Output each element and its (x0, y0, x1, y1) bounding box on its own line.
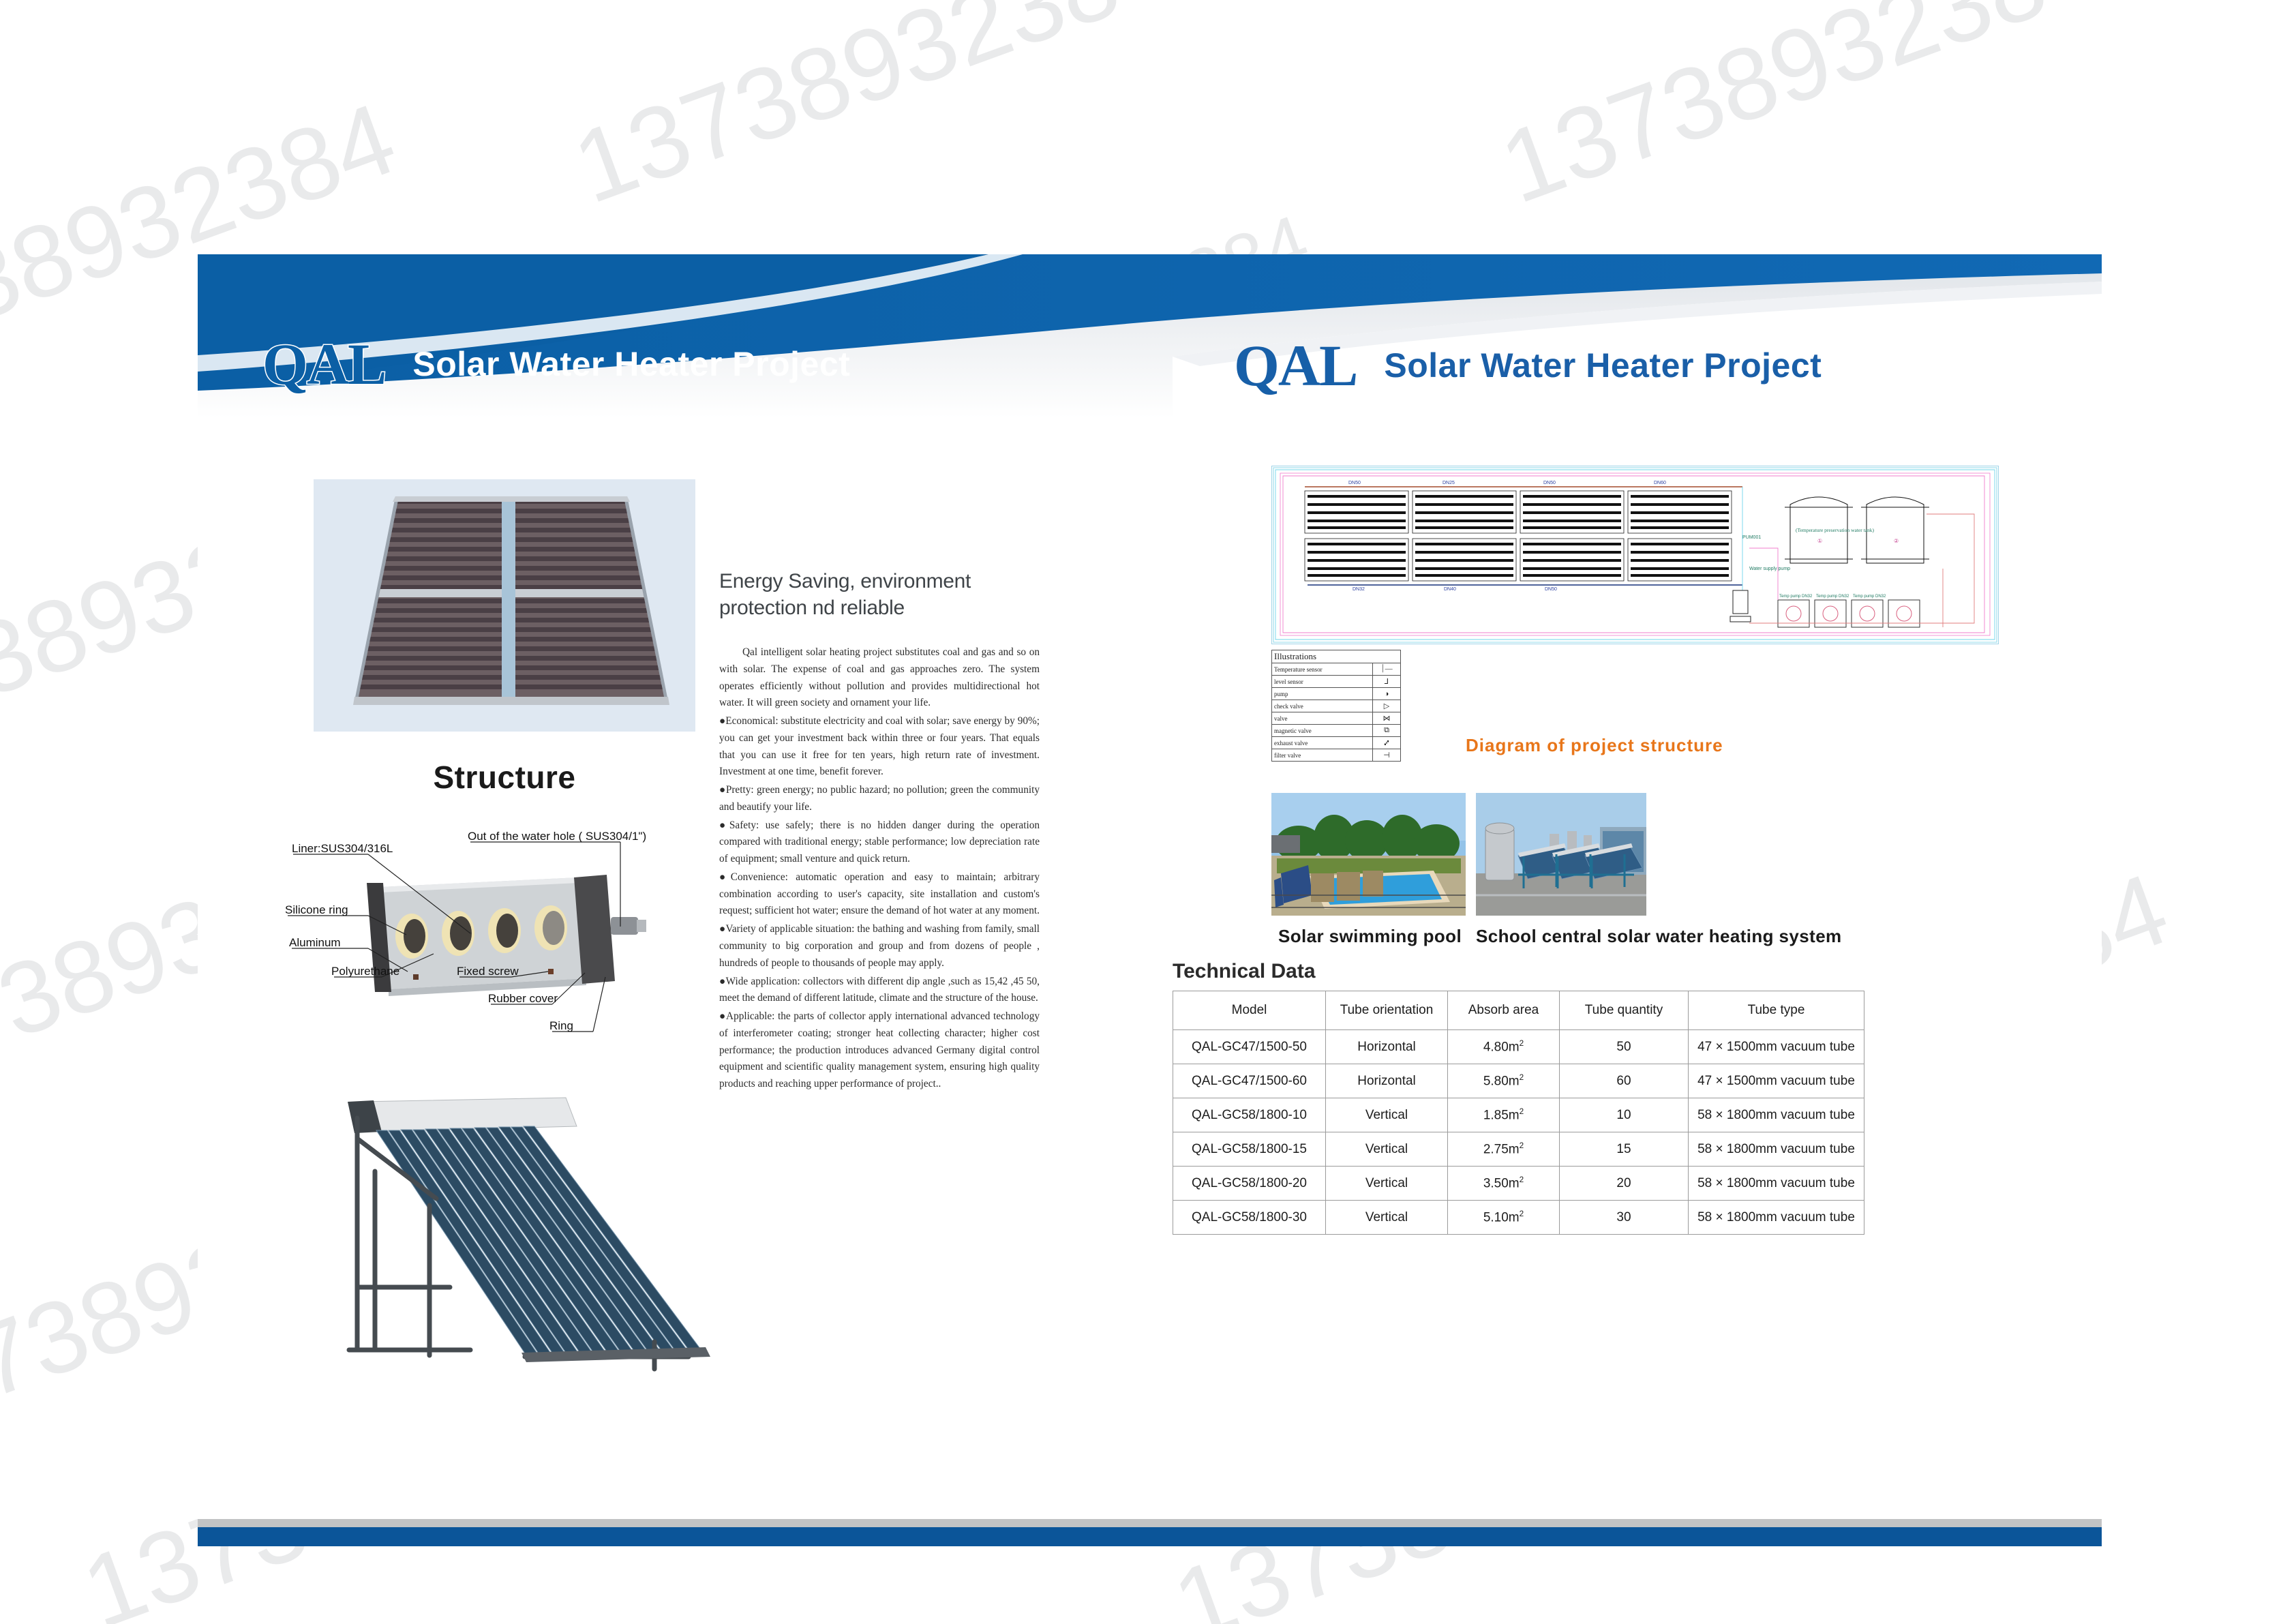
svg-text:②: ② (1894, 538, 1899, 544)
svg-text:①: ① (1817, 538, 1822, 544)
page-title: Solar Water Heater Project (412, 347, 850, 381)
svg-text:DN60: DN60 (1654, 481, 1666, 485)
tilted-collector-image (334, 1083, 716, 1376)
svg-text:DN32: DN32 (1353, 587, 1365, 592)
legend-label: level sensor (1272, 676, 1373, 688)
svg-text:Temp pump DN32: Temp pump DN32 (1816, 595, 1849, 599)
school-caption: School central solar water heating syste… (1476, 926, 1842, 947)
table-cell: QAL-GC47/1500-50 (1173, 1030, 1326, 1064)
watermark-text: 13738932384 (1486, 0, 2114, 227)
text-column: Energy Saving, environment protection nd… (719, 568, 1040, 1094)
column-header: Absorb area (1448, 991, 1560, 1030)
table-cell: 2.75m2 (1448, 1132, 1560, 1167)
body-paragraph: ●Safety: use safely; there is no hidden … (719, 817, 1040, 868)
svg-text:Water supply pump: Water supply pump (1749, 567, 1790, 571)
collector-array-image (314, 479, 695, 732)
table-cell: 20 (1560, 1167, 1689, 1201)
body-paragraph: ●Applicable: the parts of collector appl… (719, 1008, 1040, 1093)
school-system-photo (1476, 793, 1646, 916)
table-cell: 58 × 1800mm vacuum tube (1689, 1132, 1864, 1167)
flat-collector-photo (314, 479, 695, 732)
brand-left: QAL Solar Water Heater Project (262, 335, 850, 393)
filter-valve-icon: ⊣ (1373, 749, 1401, 762)
table-row: QAL-GC47/1500-50Horizontal4.80m25047 × 1… (1173, 1030, 1864, 1064)
table-cell: QAL-GC58/1800-10 (1173, 1098, 1326, 1132)
table-cell: Vertical (1326, 1132, 1448, 1167)
pump-icon: ◑ (1373, 688, 1401, 700)
structure-heading: Structure (314, 759, 695, 796)
legend-label: valve (1272, 712, 1373, 725)
table-cell: 60 (1560, 1064, 1689, 1098)
table-row: QAL-GC58/1800-20Vertical3.50m22058 × 180… (1173, 1167, 1864, 1201)
column-header: Tube type (1689, 991, 1864, 1030)
right-page: DN50DN25 DN50DN60 DN32DN40DN50 (Temperat… (1173, 254, 2102, 1546)
svg-text:DN25: DN25 (1442, 481, 1455, 485)
technical-data-heading: Technical Data (1173, 960, 1316, 983)
page-sheet: QAL Solar Water Heater Project QAL Solar… (198, 254, 2102, 1546)
technical-data-body: ModelTube orientationAbsorb areaTube qua… (1173, 991, 1864, 1235)
level-sensor-icon: ⅃ (1373, 676, 1401, 688)
column-header: Tube quantity (1560, 991, 1689, 1030)
brand-right: QAL Solar Water Heater Project (1234, 336, 1822, 395)
body-paragraph: ●Convenience: automatic operation and ea… (719, 869, 1040, 920)
structure-label-liner: Liner:SUS304/316L (292, 842, 393, 856)
table-cell: 30 (1560, 1201, 1689, 1235)
table-header-row: ModelTube orientationAbsorb areaTube qua… (1173, 991, 1864, 1030)
watermark-text: 13738932384 (0, 0, 451, 84)
structure-label-ring: Ring (549, 1019, 573, 1033)
tilted-collector-photo (334, 1083, 716, 1376)
school-system-image (1476, 793, 1646, 916)
technical-data-table: ModelTube orientationAbsorb areaTube qua… (1173, 991, 1864, 1235)
body-paragraph: ●Economical: substitute electricity and … (719, 713, 1040, 781)
table-row: QAL-GC58/1800-15Vertical2.75m21558 × 180… (1173, 1132, 1864, 1167)
body-paragraph: ●Variety of applicable situation: the ba… (719, 921, 1040, 972)
footer-gray-strip (198, 1519, 2102, 1527)
svg-text:Temp pump DN32: Temp pump DN32 (1853, 595, 1886, 599)
table-row: QAL-GC58/1800-30Vertical5.10m23058 × 180… (1173, 1201, 1864, 1235)
project-schematic-diagram: DN50DN25 DN50DN60 DN32DN40DN50 (Temperat… (1271, 466, 1999, 644)
legend-title: Illustrations (1272, 650, 1401, 663)
structure-label-polyurethane: Polyurethane (331, 965, 399, 978)
qal-logo-right: QAL (1234, 336, 1357, 395)
table-cell: 47 × 1500mm vacuum tube (1689, 1030, 1864, 1064)
table-cell: 4.80m2 (1448, 1030, 1560, 1064)
table-cell: 3.50m2 (1448, 1167, 1560, 1201)
table-row: QAL-GC58/1800-10Vertical1.85m21058 × 180… (1173, 1098, 1864, 1132)
table-cell: Horizontal (1326, 1064, 1448, 1098)
table-cell: 5.10m2 (1448, 1201, 1560, 1235)
legend-label: magnetic valve (1272, 725, 1373, 737)
table-cell: 1.85m2 (1448, 1098, 1560, 1132)
table-cell: QAL-GC58/1800-20 (1173, 1167, 1326, 1201)
table-cell: Horizontal (1326, 1030, 1448, 1064)
structure-label-waterhole: Out of the water hole ( SUS304/1") (468, 830, 646, 843)
table-cell: 58 × 1800mm vacuum tube (1689, 1201, 1864, 1235)
table-cell: 5.80m2 (1448, 1064, 1560, 1098)
footer-blue-bar (198, 1527, 2102, 1546)
body-text: Qal intelligent solar heating project su… (719, 644, 1040, 1093)
table-cell: Vertical (1326, 1201, 1448, 1235)
lead-line-1: Energy Saving, environment (719, 568, 1040, 595)
diagram-caption: Diagram of project structure (1466, 735, 1723, 756)
illustrations-legend: Illustrations Temperature sensor ⏐— leve… (1271, 650, 1401, 762)
table-cell: 50 (1560, 1030, 1689, 1064)
legend-label: check valve (1272, 700, 1373, 712)
table-cell: 10 (1560, 1098, 1689, 1132)
pool-image (1271, 793, 1466, 916)
watermark-text: 13738932384 (559, 0, 1187, 227)
svg-text:Temp pump DN32: Temp pump DN32 (1779, 595, 1813, 599)
lead-line-2: protection nd reliable (719, 595, 1040, 621)
body-paragraph: ●Wide application: collectors with diffe… (719, 974, 1040, 1008)
svg-text:DN50: DN50 (1545, 587, 1557, 592)
valve-icon: ⋈ (1373, 712, 1401, 725)
legend-label: Temperature sensor (1272, 663, 1373, 676)
structure-label-rubbercover: Rubber cover (488, 992, 558, 1006)
table-cell: 47 × 1500mm vacuum tube (1689, 1064, 1864, 1098)
left-column (314, 479, 695, 732)
svg-text:PUM001: PUM001 (1742, 535, 1761, 540)
page-title-right: Solar Water Heater Project (1384, 348, 1822, 382)
legend-label: exhaust valve (1272, 737, 1373, 749)
table-cell: QAL-GC58/1800-15 (1173, 1132, 1326, 1167)
schematic-drawing: DN50DN25 DN50DN60 DN32DN40DN50 (Temperat… (1272, 466, 1998, 644)
svg-text:DN50: DN50 (1543, 481, 1556, 485)
table-row: QAL-GC47/1500-60Horizontal5.80m26047 × 1… (1173, 1064, 1864, 1098)
body-paragraph: ●Pretty: green energy; no public hazard;… (719, 782, 1040, 816)
table-cell: QAL-GC47/1500-60 (1173, 1064, 1326, 1098)
table-cell: Vertical (1326, 1098, 1448, 1132)
table-cell: QAL-GC58/1800-30 (1173, 1201, 1326, 1235)
tank-label: (Temperature preservation water tank) (1796, 527, 1875, 533)
structure-label-fixedscrew: Fixed screw (457, 965, 519, 978)
magnetic-valve-icon: ⧉ (1373, 725, 1401, 737)
table-cell: Vertical (1326, 1167, 1448, 1201)
svg-text:DN40: DN40 (1444, 587, 1456, 592)
column-header: Tube orientation (1326, 991, 1448, 1030)
solar-swimming-pool-photo (1271, 793, 1466, 916)
legend-label: filter valve (1272, 749, 1373, 762)
table-cell: 58 × 1800mm vacuum tube (1689, 1167, 1864, 1201)
body-paragraph: Qal intelligent solar heating project su… (719, 644, 1040, 712)
structure-label-silicone: Silicone ring (285, 903, 348, 917)
lead-heading: Energy Saving, environment protection nd… (719, 568, 1040, 621)
check-valve-icon: ▷ (1373, 700, 1401, 712)
structure-diagram: Liner:SUS304/316L Out of the water hole … (266, 807, 743, 1072)
temperature-sensor-icon: ⏐— (1373, 663, 1401, 676)
table-cell: 58 × 1800mm vacuum tube (1689, 1098, 1864, 1132)
table-cell: 15 (1560, 1132, 1689, 1167)
legend-label: pump (1272, 688, 1373, 700)
qal-logo: QAL (262, 335, 385, 393)
exhaust-valve-icon: ⑇ (1373, 737, 1401, 749)
column-header: Model (1173, 991, 1326, 1030)
svg-text:DN50: DN50 (1348, 481, 1361, 485)
structure-label-aluminum: Aluminum (289, 936, 341, 950)
pool-caption: Solar swimming pool (1278, 926, 1462, 947)
